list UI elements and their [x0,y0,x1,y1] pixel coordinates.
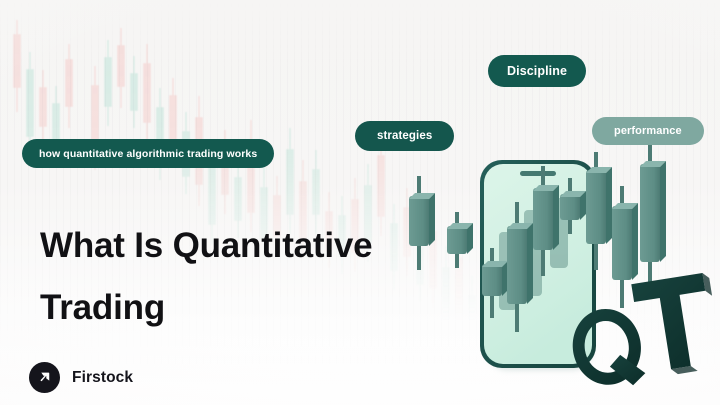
page-title: What Is Quantitative Trading [40,215,460,339]
tag-performance[interactable]: performance [592,117,704,145]
brand-logo[interactable]: Firstock [29,362,133,393]
page-title-line-2: Trading [40,277,460,339]
arrow-up-right-icon [29,362,60,393]
tag-how-it-works[interactable]: how quantitative algorithmic trading wor… [22,139,274,168]
brand-name: Firstock [72,369,133,387]
hero-banner: how quantitative algorithmic trading wor… [0,0,720,405]
tag-discipline[interactable]: Discipline [488,55,586,87]
tag-strategies[interactable]: strategies [355,121,454,151]
page-title-line-1: What Is Quantitative [40,226,372,265]
candle [640,144,666,292]
